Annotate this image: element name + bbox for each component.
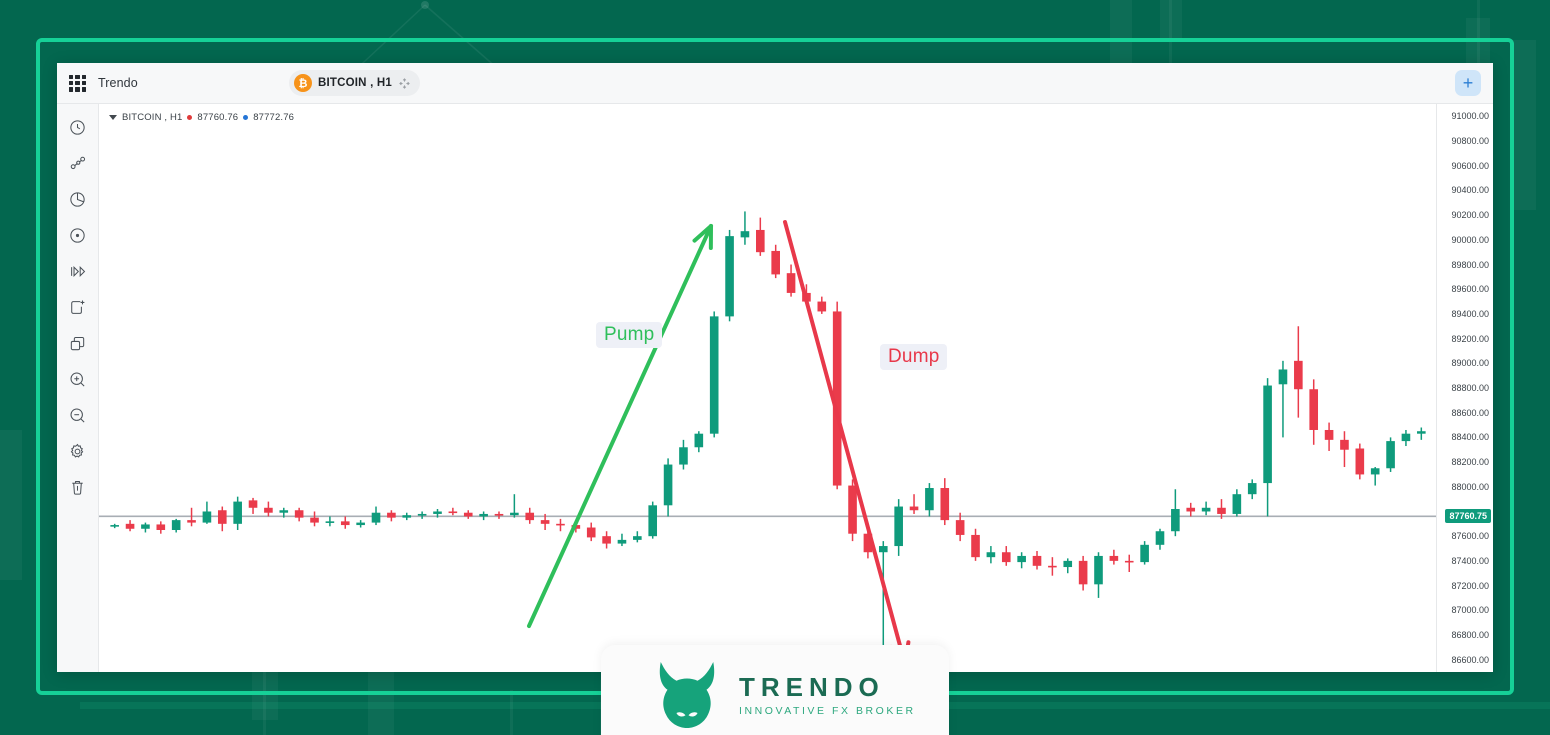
candle	[464, 510, 473, 519]
candle	[1202, 502, 1211, 516]
candle	[341, 516, 350, 528]
price-tick: 89200.00	[1451, 334, 1489, 344]
app-body: BITCOIN , H1 87760.76 87772.76 Pump Dump…	[57, 104, 1493, 672]
candle	[310, 511, 319, 526]
sidebar-item-note-add-icon[interactable]	[65, 294, 91, 320]
brand-logo-card: TRENDO INNOVATIVE FX BROKER	[601, 645, 949, 735]
candle	[449, 508, 458, 515]
layers-copy-icon	[68, 334, 87, 353]
candle	[1371, 467, 1380, 486]
candle	[1233, 489, 1242, 516]
bg-candle	[1512, 40, 1536, 210]
candle	[1417, 428, 1426, 440]
target-dot-icon	[68, 226, 87, 245]
sidebar-item-gear-icon[interactable]	[65, 438, 91, 464]
candlestick-svg	[99, 104, 1436, 672]
candle	[402, 513, 411, 520]
tools-sidebar	[57, 104, 99, 672]
price-tick: 88200.00	[1451, 457, 1489, 467]
candle	[940, 478, 949, 525]
pie-chart-icon	[68, 190, 87, 209]
candle	[894, 499, 903, 556]
candle	[203, 502, 212, 524]
candle	[1356, 444, 1365, 480]
candle	[1079, 556, 1088, 591]
sidebar-item-target-dot-icon[interactable]	[65, 222, 91, 248]
price-tick: 89400.00	[1451, 309, 1489, 319]
candle	[264, 502, 273, 517]
price-tick: 88000.00	[1451, 482, 1489, 492]
annotation-label-dump: Dump	[880, 344, 947, 370]
candle	[710, 311, 719, 437]
price-tick: 89800.00	[1451, 260, 1489, 270]
gear-icon	[68, 442, 87, 461]
current-price-badge[interactable]: 87760.75	[1445, 509, 1491, 523]
bg-wick	[510, 690, 513, 735]
sidebar-item-node-connector-icon[interactable]	[65, 150, 91, 176]
trading-app-window: Trendo ₿ BITCOIN , H1 +	[57, 63, 1493, 672]
candle	[295, 508, 304, 522]
candle	[1248, 479, 1257, 499]
candle	[1402, 430, 1411, 446]
price-tick: 91000.00	[1451, 111, 1489, 121]
chart-pane[interactable]: BITCOIN , H1 87760.76 87772.76 Pump Dump…	[99, 104, 1493, 672]
candle	[725, 230, 734, 321]
candle	[741, 211, 750, 244]
sidebar-item-playback-icon[interactable]	[65, 258, 91, 284]
bg-candle	[0, 430, 22, 580]
candle	[1156, 529, 1165, 550]
candle	[172, 519, 181, 533]
candle	[771, 245, 780, 278]
bull-head-icon	[649, 659, 725, 731]
candle	[756, 218, 765, 256]
price-tick: 90600.00	[1451, 161, 1489, 171]
candle	[141, 523, 150, 533]
price-tick: 87600.00	[1451, 531, 1489, 541]
history-clock-icon	[68, 118, 87, 137]
zoom-out-icon	[68, 406, 87, 425]
price-tick: 89000.00	[1451, 358, 1489, 368]
candle	[1140, 541, 1149, 564]
candle	[1186, 503, 1195, 517]
candle	[618, 534, 627, 546]
candle	[326, 516, 335, 526]
candle	[1279, 361, 1288, 438]
candle	[418, 511, 427, 518]
candle	[1063, 558, 1072, 573]
sidebar-item-trash-icon[interactable]	[65, 474, 91, 500]
price-tick: 88600.00	[1451, 408, 1489, 418]
candle	[664, 458, 673, 516]
price-tick: 87000.00	[1451, 605, 1489, 615]
candlestick-plot[interactable]	[99, 104, 1436, 672]
candle	[679, 440, 688, 470]
candle	[1094, 552, 1103, 598]
candle	[126, 520, 135, 531]
app-topbar: Trendo ₿ BITCOIN , H1 +	[57, 63, 1493, 104]
brand-name: Trendo	[98, 76, 138, 90]
candle	[387, 510, 396, 521]
bitcoin-icon: ₿	[294, 74, 312, 92]
candle	[218, 507, 227, 532]
candle	[356, 520, 365, 527]
sidebar-item-pie-chart-icon[interactable]	[65, 186, 91, 212]
sidebar-item-zoom-out-icon[interactable]	[65, 402, 91, 428]
price-tick: 90200.00	[1451, 210, 1489, 220]
candle	[1171, 489, 1180, 536]
candle	[1033, 551, 1042, 570]
candle	[925, 483, 934, 516]
candle	[110, 524, 119, 528]
candle	[633, 531, 642, 542]
candle	[1340, 431, 1349, 467]
candle	[156, 521, 165, 533]
move-resize-icon[interactable]	[398, 77, 411, 90]
candle	[833, 302, 842, 490]
sidebar-item-history-clock-icon[interactable]	[65, 114, 91, 140]
sidebar-item-layers-copy-icon[interactable]	[65, 330, 91, 356]
price-tick: 88800.00	[1451, 383, 1489, 393]
candle	[249, 498, 258, 514]
note-add-icon	[68, 298, 87, 317]
candle	[787, 265, 796, 297]
candle	[556, 519, 565, 531]
price-tick: 87200.00	[1451, 581, 1489, 591]
price-tick: 87400.00	[1451, 556, 1489, 566]
candle	[817, 297, 826, 314]
sidebar-item-zoom-in-icon[interactable]	[65, 366, 91, 392]
page-root: Trendo ₿ BITCOIN , H1 +	[0, 0, 1550, 735]
candle	[1309, 379, 1318, 444]
candle	[1263, 378, 1272, 516]
candle	[987, 546, 996, 563]
add-tab-button[interactable]: +	[1455, 70, 1481, 96]
brand-tagline: INNOVATIVE FX BROKER	[739, 705, 916, 717]
candle	[910, 494, 919, 514]
candle	[1048, 557, 1057, 576]
candle	[1002, 546, 1011, 566]
candle	[602, 531, 611, 548]
candle	[495, 511, 504, 518]
price-tick: 86800.00	[1451, 630, 1489, 640]
symbol-tab-chip[interactable]: ₿ BITCOIN , H1	[289, 70, 420, 96]
candle	[1017, 552, 1026, 568]
candle	[233, 497, 242, 530]
candle	[1110, 550, 1119, 565]
candle	[1125, 555, 1134, 572]
zoom-in-icon	[68, 370, 87, 389]
candle	[971, 529, 980, 561]
brand-logo-text: TRENDO INNOVATIVE FX BROKER	[739, 674, 916, 717]
candle	[479, 511, 488, 520]
candle	[525, 508, 534, 524]
candle	[372, 507, 381, 526]
price-tick: 90800.00	[1451, 136, 1489, 146]
price-tick: 86600.00	[1451, 655, 1489, 665]
trash-icon	[68, 478, 87, 497]
price-tick: 90000.00	[1451, 235, 1489, 245]
candle	[1386, 437, 1395, 472]
node-connector-icon	[68, 154, 87, 173]
price-tick: 88400.00	[1451, 432, 1489, 442]
dump-arrow	[785, 222, 908, 664]
symbol-tab-label: BITCOIN , H1	[318, 77, 392, 89]
apps-grid-icon[interactable]	[69, 75, 86, 92]
annotation-label-pump: Pump	[596, 322, 662, 348]
price-axis[interactable]: 91000.0090800.0090600.0090400.0090200.00…	[1436, 104, 1493, 672]
candle	[1325, 423, 1334, 451]
candle	[695, 431, 704, 452]
price-tick: 90400.00	[1451, 185, 1489, 195]
candle	[648, 502, 657, 539]
pump-arrow	[529, 226, 711, 626]
price-tick: 89600.00	[1451, 284, 1489, 294]
brand-wordmark: TRENDO	[739, 674, 916, 700]
playback-icon	[68, 262, 87, 281]
candle	[1294, 326, 1303, 417]
candle	[510, 494, 519, 517]
candle	[587, 523, 596, 542]
